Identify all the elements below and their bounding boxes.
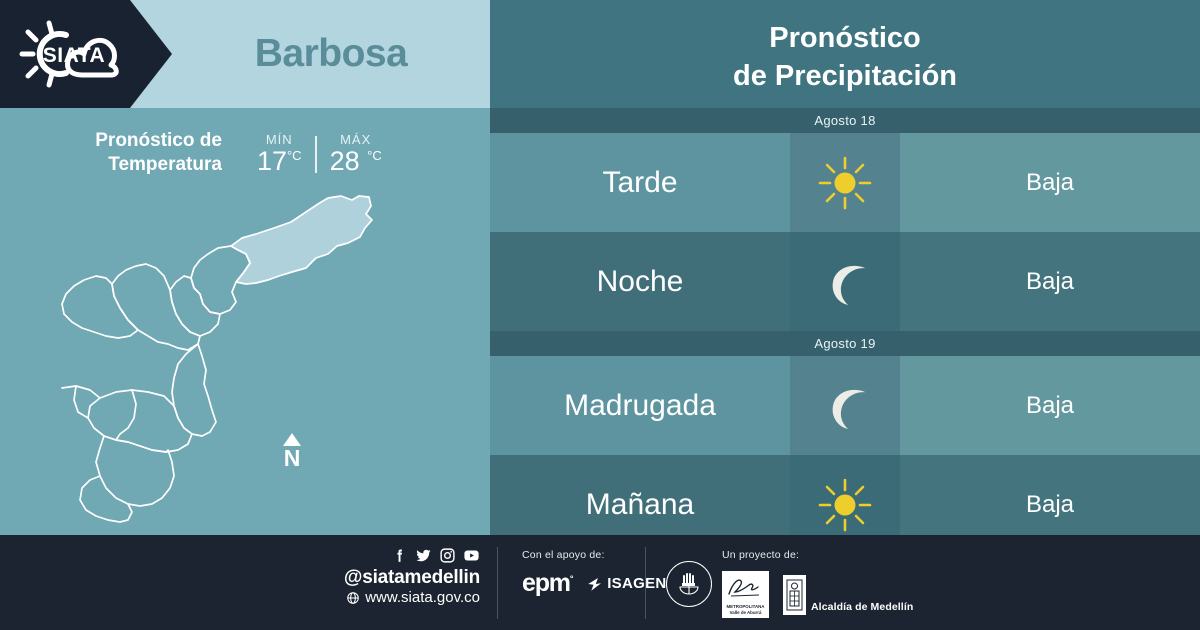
temperature-min: MÍN 17°C: [244, 132, 315, 175]
date-band: Agosto 18: [490, 108, 1200, 133]
forecast-level: Baja: [900, 133, 1200, 232]
forecast-level: Baja: [900, 232, 1200, 331]
map-region-northwest: [62, 276, 138, 338]
social-handle[interactable]: @siatamedellin: [300, 567, 480, 589]
forecast-weather-icon-cell: [790, 133, 900, 232]
map-region-border-extra: [62, 386, 100, 398]
map-region-itagui: [88, 390, 192, 452]
epm-logo[interactable]: epm°: [522, 571, 572, 596]
youtube-icon[interactable]: [463, 547, 480, 564]
table-row[interactable]: Noche Baja: [490, 232, 1200, 331]
alcaldia-logo[interactable]: Alcaldía de Medellín: [783, 575, 913, 615]
footer-divider-2: [645, 547, 646, 619]
footer-project-block: Un proyecto de: METROPOLITANA Valle de A…: [722, 549, 913, 618]
temperature-min-caption: MÍN: [266, 132, 293, 147]
alcaldia-label: Alcaldía de Medellín: [811, 601, 913, 615]
svg-text:SIATA: SIATA: [43, 44, 105, 67]
facebook-icon[interactable]: [391, 547, 408, 564]
infographic-root: SIATA Barbosa Pronóstico de Precipitació…: [0, 0, 1200, 630]
aburra-valley-map[interactable]: [60, 184, 440, 529]
temperature-panel: Pronóstico de Temperatura MÍN 17°C MÁX 2…: [0, 108, 490, 535]
project-caption: Un proyecto de:: [722, 549, 913, 561]
temperature-max-caption: MÁX: [340, 132, 371, 147]
unal-seal-icon[interactable]: [666, 561, 712, 607]
footer-divider-1: [497, 547, 498, 619]
precipitation-title-line1: Pronóstico: [769, 19, 920, 57]
table-row[interactable]: Madrugada Baja: [490, 356, 1200, 455]
map-region-copacabana: [170, 276, 220, 336]
isagen-mark-icon: [586, 575, 604, 593]
hand-seal-icon: [674, 569, 704, 599]
temperature-max: MÁX 28 °C: [317, 132, 395, 175]
instagram-icon[interactable]: [439, 547, 456, 564]
forecast-weather-icon-cell: [790, 232, 900, 331]
precipitation-title: Pronóstico de Precipitación: [490, 6, 1200, 108]
map-svg: [60, 184, 440, 529]
map-region-envigado: [116, 390, 136, 440]
map-region-border-extra2: [74, 386, 88, 418]
sun-icon: [817, 155, 873, 211]
header: SIATA Barbosa Pronóstico de Precipitació…: [0, 0, 1200, 108]
moon-icon: [817, 254, 873, 310]
area-metropolitana-logo[interactable]: METROPOLITANA Valle de Aburrá: [722, 571, 769, 618]
area-script-icon: [725, 574, 767, 604]
temperature-header: Pronóstico de Temperatura MÍN 17°C MÁX 2…: [0, 122, 490, 184]
area-sub2: Valle de Aburrá: [727, 610, 765, 616]
social-icons: [300, 547, 480, 564]
date-band: Agosto 19: [490, 331, 1200, 356]
map-region-sabaneta: [94, 428, 166, 452]
precipitation-title-line2: de Precipitación: [733, 57, 957, 95]
precipitation-forecast-table: Agosto 18 Tarde: [490, 108, 1200, 535]
temperature-label: Pronóstico de Temperatura: [95, 129, 222, 177]
moon-icon: [817, 378, 873, 434]
map-region-caldas: [80, 476, 132, 522]
website-line[interactable]: www.siata.gov.co: [300, 589, 480, 607]
forecast-period-label: Madrugada: [490, 356, 790, 455]
map-region-south: [96, 436, 174, 506]
temperature-values: MÍN 17°C MÁX 28 °C: [244, 132, 395, 175]
globe-icon: [346, 591, 360, 605]
project-logos: METROPOLITANA Valle de Aburrá: [722, 571, 913, 618]
temperature-divider: [315, 136, 317, 173]
university-seal-block: [666, 561, 712, 607]
north-arrow: N: [272, 433, 312, 470]
north-label: N: [272, 447, 312, 470]
twitter-icon[interactable]: [415, 547, 432, 564]
area-sub1: METROPOLITANA: [727, 604, 765, 610]
forecast-level: Baja: [900, 356, 1200, 455]
map-region-barbosa: [231, 196, 372, 284]
isagen-logo[interactable]: ISAGEN: [586, 575, 666, 593]
alcaldia-shield-icon: [783, 575, 806, 615]
website-url: www.siata.gov.co: [365, 589, 480, 607]
temperature-max-value: 28 °C: [330, 148, 382, 175]
footer-social-block: @siatamedellin www.siata.gov.co: [300, 547, 480, 607]
footer: @siatamedellin www.siata.gov.co Con el a…: [0, 535, 1200, 630]
map-region-medellin: [172, 344, 216, 436]
sun-cloud-icon: SIATA: [16, 18, 132, 90]
temperature-min-value: 17°C: [257, 148, 302, 175]
alcaldia-crest-icon: [786, 579, 803, 611]
city-title: Barbosa: [172, 0, 490, 108]
forecast-weather-icon-cell: [790, 356, 900, 455]
table-row[interactable]: Tarde Baja: [490, 133, 1200, 232]
isagen-label: ISAGEN: [607, 575, 666, 592]
forecast-period-label: Noche: [490, 232, 790, 331]
sun-icon: [817, 477, 873, 533]
forecast-period-label: Tarde: [490, 133, 790, 232]
